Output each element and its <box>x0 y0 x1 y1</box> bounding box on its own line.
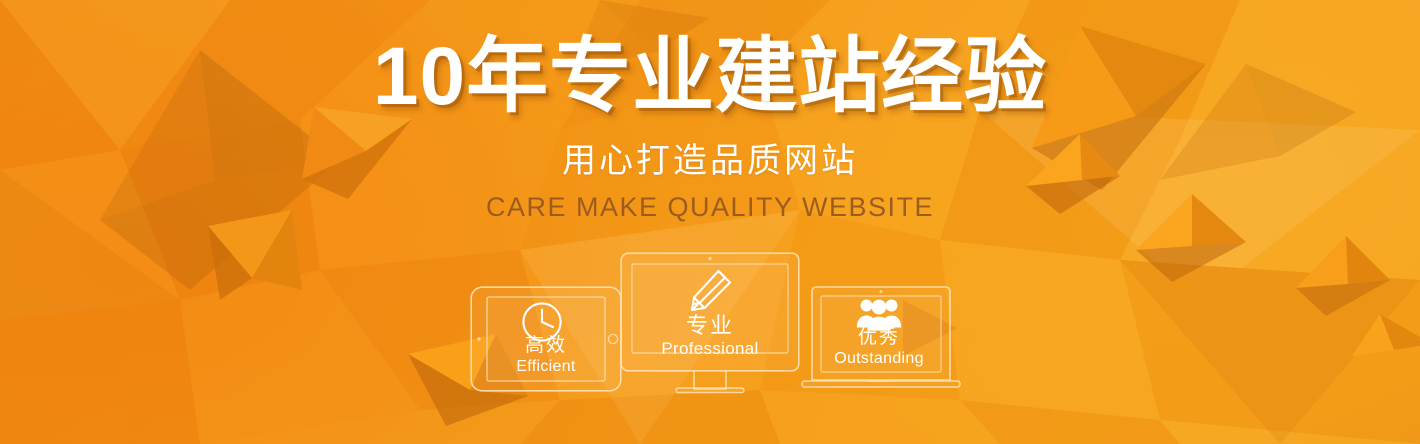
subtitle-chinese: 用心打造品质网站 <box>0 118 1420 178</box>
feature-card-outstanding[interactable] <box>802 284 960 400</box>
tablet-icon <box>470 286 622 392</box>
feature-devices: 高效 Efficient 专业 <box>0 252 1420 402</box>
feature-card-efficient[interactable] <box>470 286 622 392</box>
hero-banner: 10年专业建站经验 用心打造品质网站 CARE MAKE QUALITY WEB… <box>0 0 1420 444</box>
banner-copy: 10年专业建站经验 用心打造品质网站 CARE MAKE QUALITY WEB… <box>0 0 1420 221</box>
feature-card-professional[interactable] <box>620 252 800 400</box>
monitor-icon <box>620 252 800 400</box>
laptop-icon <box>802 284 960 400</box>
page-title: 10年专业建站经验 <box>0 0 1420 118</box>
subtitle-english: CARE MAKE QUALITY WEBSITE <box>0 178 1420 221</box>
